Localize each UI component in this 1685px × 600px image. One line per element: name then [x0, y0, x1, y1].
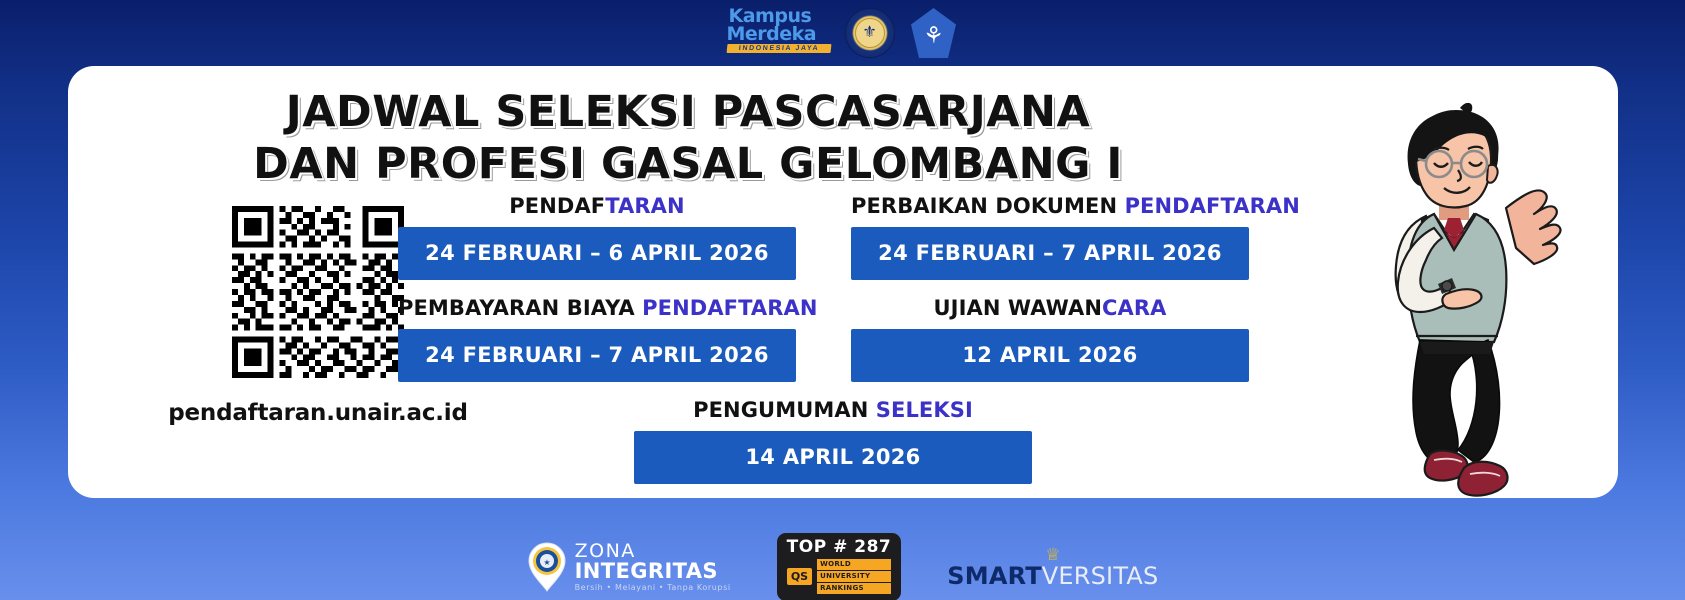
svg-text:★: ★ — [543, 558, 550, 567]
smartversitas-text: SMARTVERSITAS — [947, 564, 1158, 588]
zona-integritas-seal-icon: ★ — [527, 542, 567, 592]
schedule-item-ujian-wawancara: UJIAN WAWANCARA 12 APRIL 2026 — [851, 296, 1249, 382]
footer-logo-bar: ★ ZONA INTEGRITAS Bersih • Melayani • Ta… — [0, 536, 1685, 598]
schedule-item-pengumuman: PENGUMUMAN SELEKSI 14 APRIL 2026 — [634, 398, 1032, 484]
schedule-date-pengumuman: 14 APRIL 2026 — [634, 431, 1032, 484]
crown-icon: ♕ — [1045, 546, 1060, 563]
zona-integritas-text: ZONA INTEGRITAS Bersih • Melayani • Tanp… — [575, 542, 731, 592]
kampus-merdeka-line2: Merdeka — [727, 25, 831, 43]
label-accent-part: TARAN — [605, 194, 684, 218]
waving-hand — [1506, 190, 1561, 264]
qs-rank-text: TOP # 287 — [787, 539, 892, 556]
kemendikbud-seal-icon: ⚘ — [909, 8, 959, 58]
label-dark-part: PENDAF — [509, 194, 605, 218]
schedule-date-pembayaran: 24 FEBRUARI – 7 APRIL 2026 — [398, 329, 796, 382]
label-dark-part: PENGUMUMAN — [693, 398, 876, 422]
schedule-row-2: PEMBAYARAN BIAYA PENDAFTARAN 24 FEBRUARI… — [398, 296, 1268, 398]
qs-ranking-lines: WORLD UNIVERSITY RANKINGS — [817, 559, 891, 593]
label-dark-part: PEMBAYARAN BIAYA — [398, 296, 642, 320]
qs-bar-world: WORLD — [817, 559, 891, 570]
zona-tagline: Bersih • Melayani • Tanpa Korupsi — [575, 584, 731, 592]
qs-bar-university: UNIVERSITY — [817, 571, 891, 582]
title-line-1: JADWAL SELEKSI PASCASARJANA — [68, 86, 1308, 138]
schedule-label-pengumuman: PENGUMUMAN SELEKSI — [634, 398, 1032, 422]
schedule-date-ujian-wawancara: 12 APRIL 2026 — [851, 329, 1249, 382]
unair-seal-inner: ⚜ — [855, 18, 885, 48]
schedule-item-pembayaran: PEMBAYARAN BIAYA PENDAFTARAN 24 FEBRUARI… — [398, 296, 796, 382]
schedule-label-pembayaran: PEMBAYARAN BIAYA PENDAFTARAN — [398, 296, 796, 320]
label-accent-part: CARA — [1102, 296, 1167, 320]
kampus-merdeka-banner: INDONESIA JAYA — [726, 44, 831, 53]
qs-badge-body: QS WORLD UNIVERSITY RANKINGS — [787, 559, 891, 593]
schedule-date-perbaikan-dokumen: 24 FEBRUARI – 7 APRIL 2026 — [851, 227, 1249, 280]
label-accent-part: PENDAFTARAN — [642, 296, 817, 320]
qr-code-image[interactable] — [232, 206, 404, 378]
title-line-2: DAN PROFESI GASAL GELOMBANG I — [68, 138, 1308, 190]
label-dark-part: UJIAN WAWAN — [934, 296, 1103, 320]
zona-integritas-logo: ★ ZONA INTEGRITAS Bersih • Melayani • Ta… — [527, 542, 731, 592]
label-dark-part: PERBAIKAN DOKUMEN — [851, 194, 1125, 218]
smartversitas-logo: ♕ SMARTVERSITAS — [947, 546, 1158, 588]
schedule-row-1: PENDAFTARAN 24 FEBRUARI – 6 APRIL 2026 P… — [398, 194, 1268, 296]
label-accent-part: SELEKSI — [876, 398, 973, 422]
header-logo-bar: Kampus Merdeka INDONESIA JAYA ⚜ ⚘ — [0, 4, 1685, 62]
kampus-merdeka-logo: Kampus Merdeka INDONESIA JAYA — [727, 7, 831, 59]
zona-line-2: INTEGRITAS — [575, 561, 731, 582]
smart-part-2: VERSITAS — [1042, 562, 1159, 590]
qs-logo-icon: QS — [787, 568, 812, 585]
qs-bar-rankings: RANKINGS — [817, 583, 891, 594]
schedule-card: JADWAL SELEKSI PASCASARJANA DAN PROFESI … — [68, 66, 1618, 498]
schedule-row-3: PENGUMUMAN SELEKSI 14 APRIL 2026 — [398, 398, 1268, 484]
shoe-front — [1458, 462, 1507, 496]
smart-part-1: SMART — [947, 562, 1042, 590]
schedule-label-ujian-wawancara: UJIAN WAWANCARA — [851, 296, 1249, 320]
schedule-date-pendaftaran: 24 FEBRUARI – 6 APRIL 2026 — [398, 227, 796, 280]
label-accent-part: PENDAFTARAN — [1125, 194, 1300, 218]
schedule-label-pendaftaran: PENDAFTARAN — [398, 194, 796, 218]
schedule-item-pendaftaran: PENDAFTARAN 24 FEBRUARI – 6 APRIL 2026 — [398, 194, 796, 280]
page-title: JADWAL SELEKSI PASCASARJANA DAN PROFESI … — [68, 86, 1308, 191]
tut-wuri-handayani-icon: ⚘ — [923, 24, 944, 47]
qs-ranking-badge: TOP # 287 QS WORLD UNIVERSITY RANKINGS — [777, 533, 902, 600]
schedule-item-perbaikan-dokumen: PERBAIKAN DOKUMEN PENDAFTARAN 24 FEBRUAR… — [851, 194, 1249, 280]
schedule-list: PENDAFTARAN 24 FEBRUARI – 6 APRIL 2026 P… — [398, 194, 1268, 484]
unair-seal-icon: ⚜ — [845, 8, 895, 58]
schedule-label-perbaikan-dokumen: PERBAIKAN DOKUMEN PENDAFTARAN — [851, 194, 1249, 218]
student-illustration — [1338, 98, 1588, 498]
